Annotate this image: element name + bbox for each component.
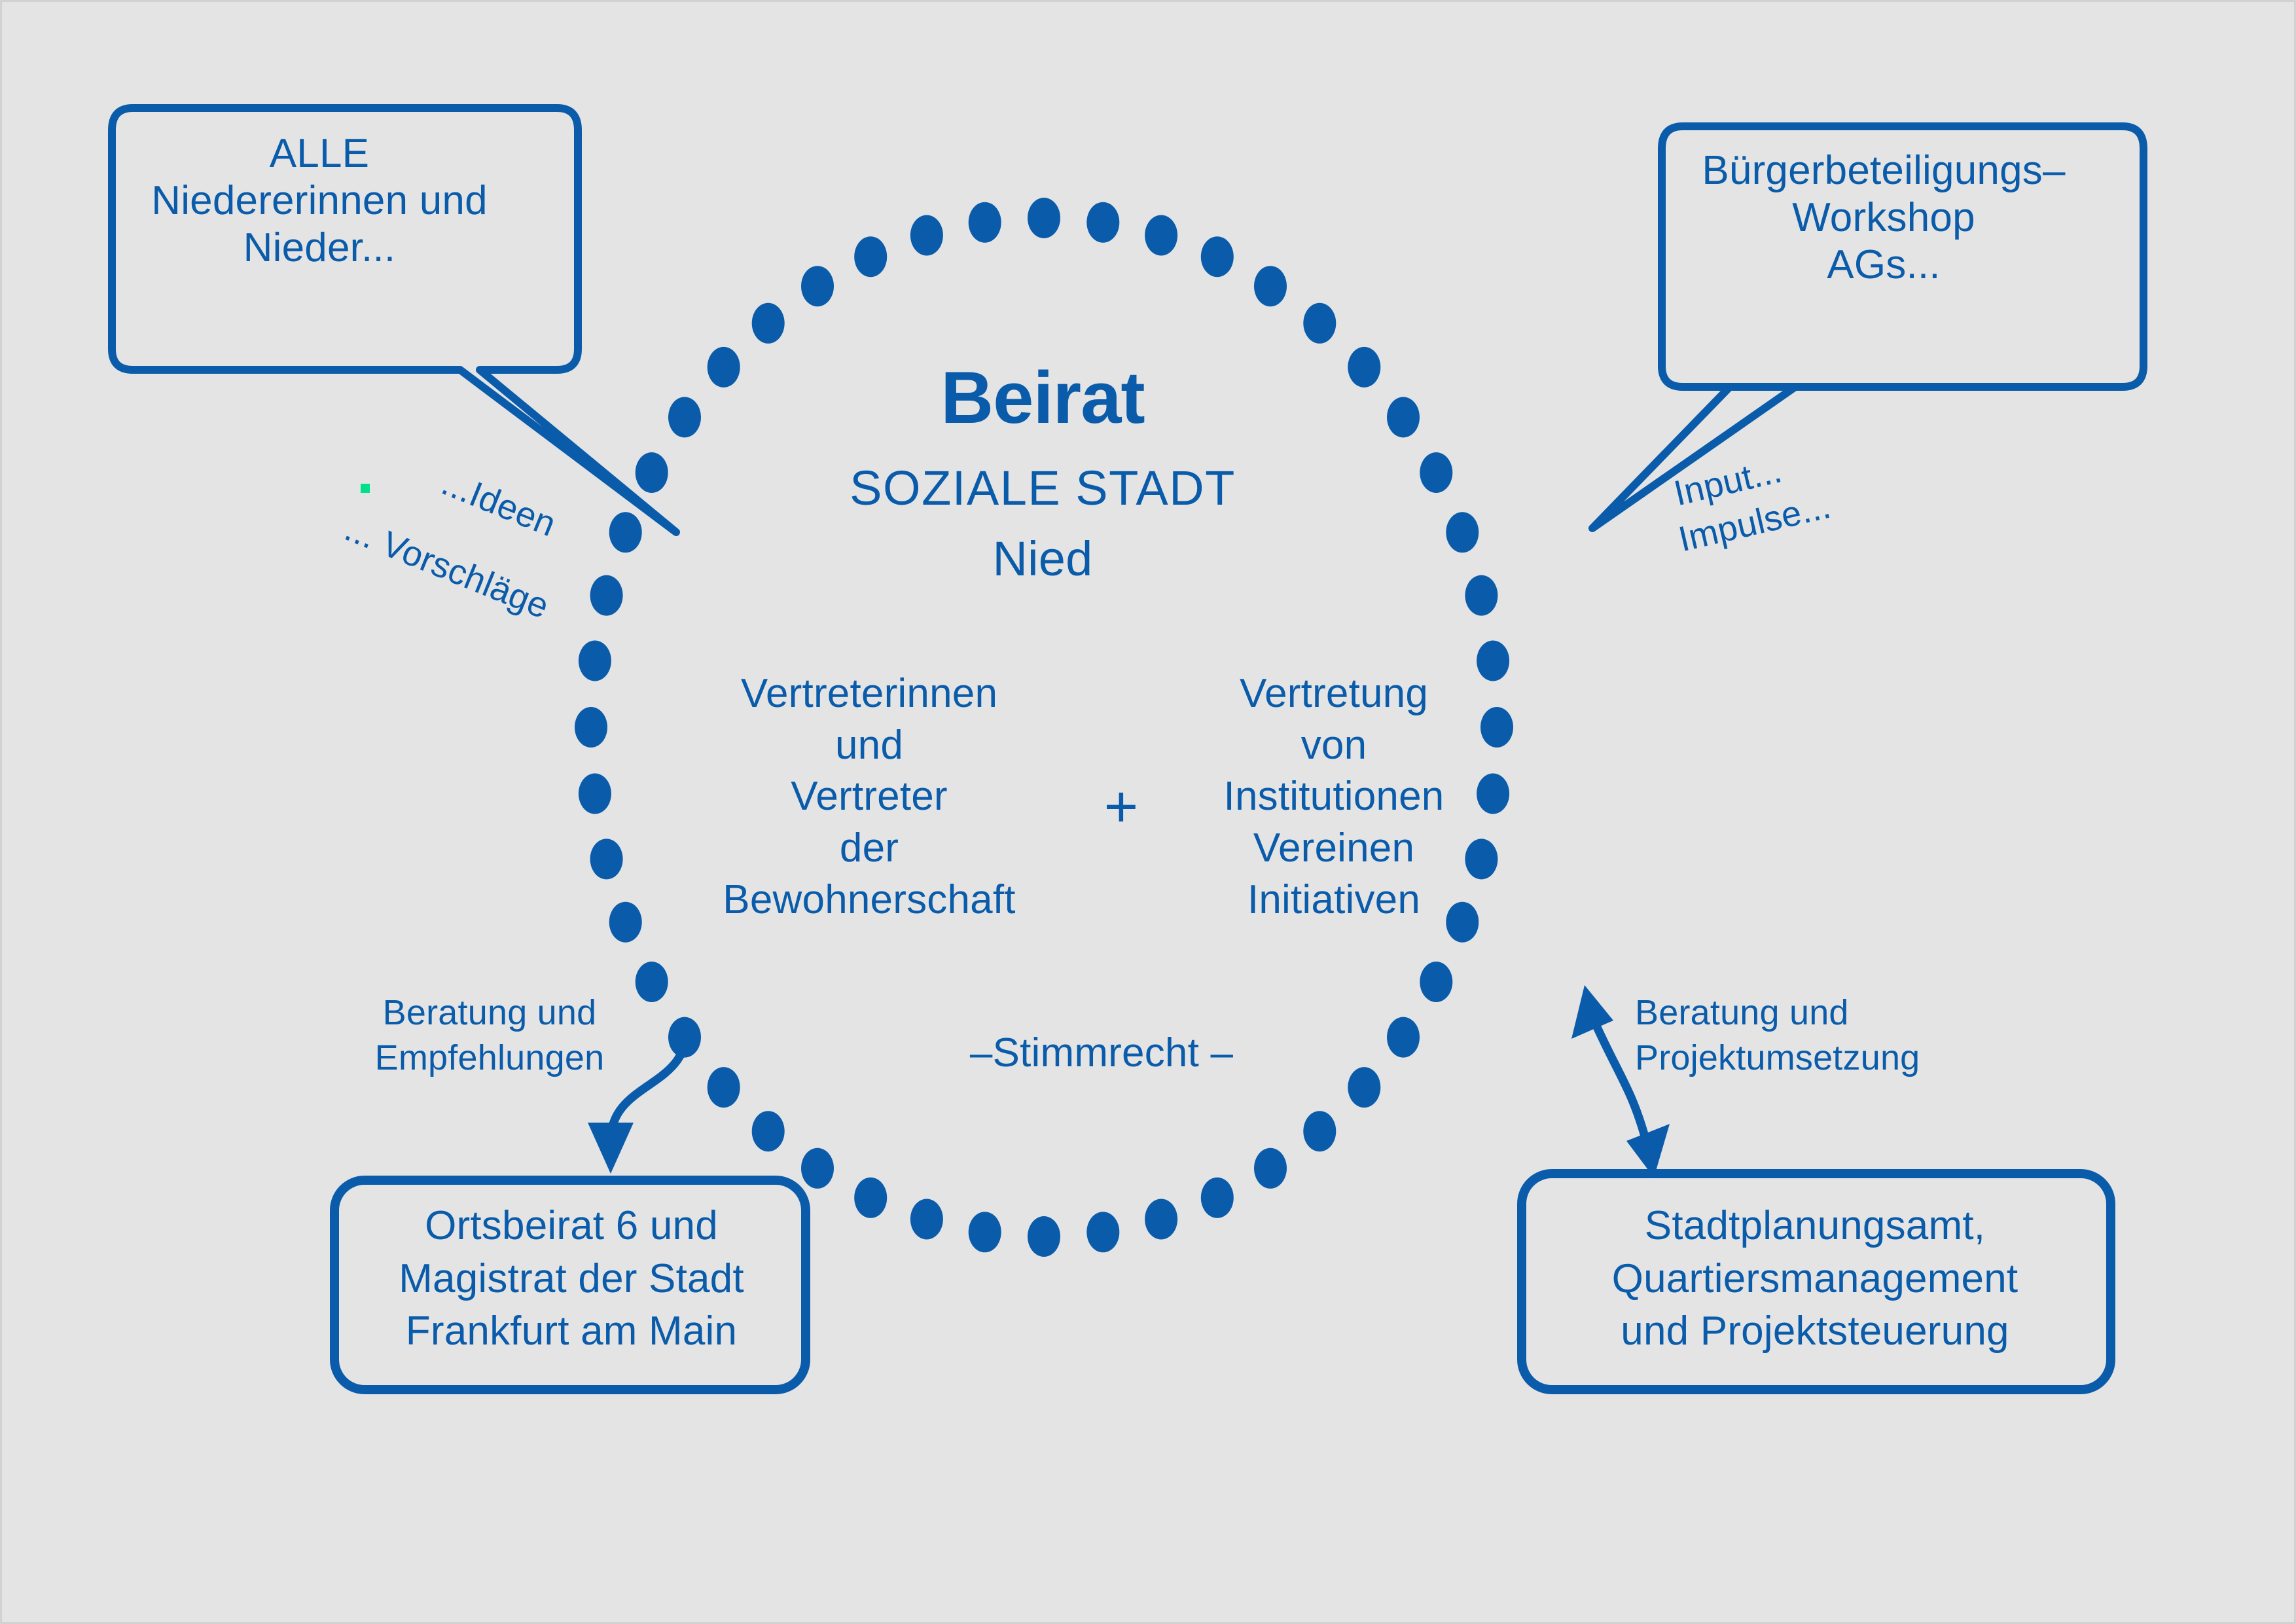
stadtplanungsamt-box-label: Stadtplanungsamt, Quartiersmanagement un…	[1527, 1200, 2103, 1358]
annotation-beratung-projektumsetzung: Beratung und Projektumsetzung	[1635, 990, 1982, 1081]
annotation-beratung-empfehlungen: Beratung und Empfehlungen	[336, 990, 643, 1081]
green-marker-dot	[361, 484, 370, 493]
circle-dot	[1254, 1148, 1287, 1189]
circle-dot	[910, 1199, 943, 1240]
circle-dot	[1201, 236, 1234, 277]
plus-icon: +	[1072, 778, 1170, 837]
circle-dot	[575, 707, 607, 748]
circle-dot	[854, 1178, 887, 1218]
circle-dot	[636, 452, 668, 493]
circle-dot	[609, 902, 642, 943]
circle-dot	[1348, 1067, 1380, 1108]
bubble-left-label: ALLE Niedererinnen und Nieder...	[87, 130, 552, 272]
circle-dot	[708, 1067, 740, 1108]
circle-dot	[969, 202, 1001, 243]
diagram-canvas: ALLE Niedererinnen und Nieder... Bürgerb…	[0, 0, 2296, 1624]
circle-dot	[1028, 198, 1060, 238]
circle-dot	[1387, 397, 1420, 437]
page-title: Beirat	[781, 355, 1304, 441]
circle-dot	[1477, 774, 1509, 814]
circle-dot	[1465, 575, 1498, 616]
stimmrecht-label: –Stimmrecht –	[899, 1030, 1304, 1077]
circle-dot	[668, 397, 701, 437]
circle-dot	[1254, 266, 1287, 306]
circle-dot	[1028, 1216, 1060, 1257]
ortsbeirat-box-label: Ortsbeirat 6 und Magistrat der Stadt Fra…	[342, 1200, 800, 1358]
circle-dot	[1303, 1111, 1336, 1151]
circle-dot	[1201, 1178, 1234, 1218]
circle-dot	[1420, 962, 1452, 1002]
circle-dot	[1420, 452, 1452, 493]
circle-dot	[969, 1212, 1001, 1252]
circle-dot	[801, 1148, 834, 1189]
circle-dot	[1480, 707, 1513, 748]
circle-subtitle-line1: SOZIALE STADT	[781, 460, 1304, 516]
circle-dot	[1145, 1199, 1177, 1240]
circle-dot	[801, 266, 834, 306]
circle-subtitle-line2: Nied	[781, 531, 1304, 587]
circle-dot	[1303, 303, 1336, 344]
circle-dot	[1348, 347, 1380, 388]
circle-dot	[708, 347, 740, 388]
circle-dot	[752, 1111, 785, 1151]
circle-dot	[1477, 641, 1509, 681]
circle-left-column: Vertreterinnen und Vertreter der Bewohne…	[706, 668, 1033, 926]
circle-right-column: Vertretung von Institutionen Vereinen In…	[1193, 668, 1475, 926]
circle-dot	[1145, 215, 1177, 256]
circle-dot	[1086, 202, 1119, 243]
circle-dot	[590, 839, 623, 879]
circle-dot	[1387, 1017, 1420, 1058]
circle-dot	[579, 774, 611, 814]
circle-dot	[752, 303, 785, 344]
circle-dot	[1446, 512, 1479, 552]
bubble-right-label: Bürgerbeteiligungs– Workshop AGs...	[1651, 147, 2116, 289]
circle-dot	[1086, 1212, 1119, 1252]
circle-dot	[910, 215, 943, 256]
circle-dot	[854, 236, 887, 277]
